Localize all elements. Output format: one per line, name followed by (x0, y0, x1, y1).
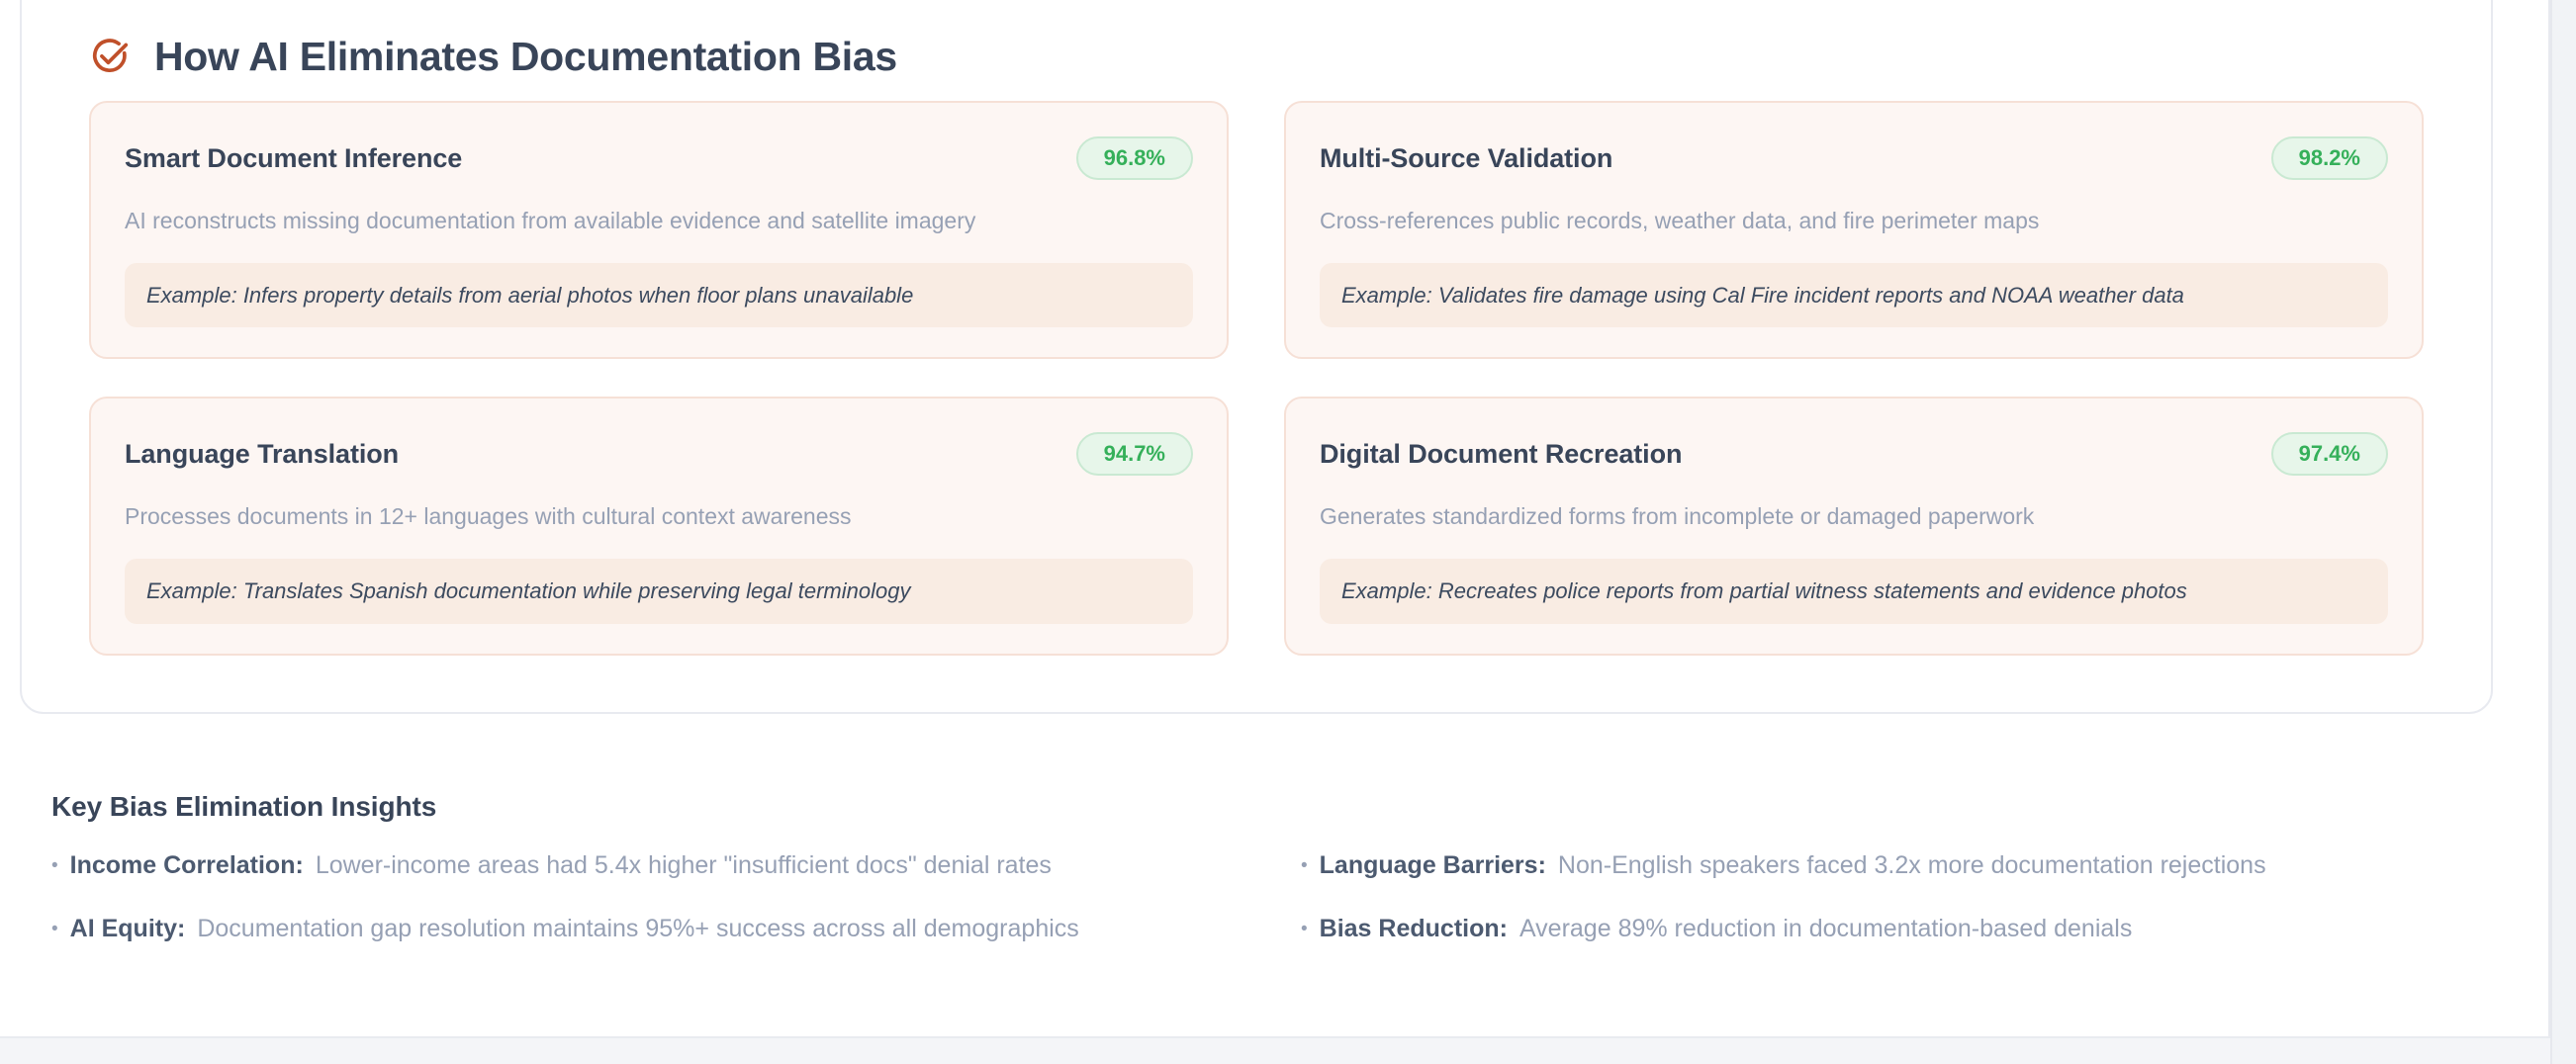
documentation-bias-panel: How AI Eliminates Documentation Bias Sma… (20, 0, 2493, 714)
feature-card-description: Processes documents in 12+ languages wit… (125, 502, 1193, 531)
feature-card-example: Example: Infers property details from ae… (125, 263, 1193, 328)
panel-header: How AI Eliminates Documentation Bias (69, 0, 2443, 101)
feature-card-example: Example: Translates Spanish documentatio… (125, 559, 1193, 624)
feature-card-description: Generates standardized forms from incomp… (1320, 502, 2388, 531)
bullet-icon: • (51, 856, 58, 875)
footer-strip (0, 1038, 2550, 1064)
insight-item: • Language Barriers: Non-English speaker… (1301, 850, 2495, 880)
insight-label: Income Correlation: (70, 850, 304, 880)
page-content-column: How AI Eliminates Documentation Bias Sma… (0, 0, 2550, 1064)
insight-item: • Bias Reduction: Average 89% reduction … (1301, 914, 2495, 943)
feature-card-header: Smart Document Inference 96.8% (125, 136, 1193, 180)
insight-text: Lower-income areas had 5.4x higher "insu… (316, 850, 1052, 880)
insight-label: Language Barriers: (1320, 850, 1546, 880)
key-insights-section: Key Bias Elimination Insights • Income C… (51, 791, 2495, 943)
insight-item: • AI Equity: Documentation gap resolutio… (51, 914, 1245, 943)
bullet-icon: • (1301, 920, 1308, 938)
insight-label: AI Equity: (70, 914, 186, 943)
feature-card-title: Language Translation (125, 439, 399, 470)
feature-card[interactable]: Digital Document Recreation 97.4% Genera… (1284, 397, 2424, 655)
bullet-icon: • (1301, 856, 1308, 875)
insight-text: Non-English speakers faced 3.2x more doc… (1558, 850, 2266, 880)
feature-card-header: Multi-Source Validation 98.2% (1320, 136, 2388, 180)
feature-cards-grid: Smart Document Inference 96.8% AI recons… (69, 101, 2443, 656)
feature-card[interactable]: Language Translation 94.7% Processes doc… (89, 397, 1229, 655)
feature-card-description: Cross-references public records, weather… (1320, 207, 2388, 235)
insight-text: Documentation gap resolution maintains 9… (197, 914, 1078, 943)
feature-card[interactable]: Smart Document Inference 96.8% AI recons… (89, 101, 1229, 359)
feature-card-example: Example: Recreates police reports from p… (1320, 559, 2388, 624)
insight-label: Bias Reduction: (1320, 914, 1508, 943)
feature-card[interactable]: Multi-Source Validation 98.2% Cross-refe… (1284, 101, 2424, 359)
feature-card-description: AI reconstructs missing documentation fr… (125, 207, 1193, 235)
screen: How AI Eliminates Documentation Bias Sma… (0, 0, 2576, 1064)
page-title: How AI Eliminates Documentation Bias (154, 37, 897, 77)
page-scrollbar-gutter[interactable] (2550, 0, 2576, 1064)
feature-card-title: Multi-Source Validation (1320, 143, 1612, 174)
insights-grid: • Income Correlation: Lower-income areas… (51, 850, 2495, 943)
feature-card-example: Example: Validates fire damage using Cal… (1320, 263, 2388, 328)
feature-card-header: Language Translation 94.7% (125, 432, 1193, 476)
accuracy-badge: 94.7% (1076, 432, 1193, 476)
bullet-icon: • (51, 920, 58, 938)
feature-card-header: Digital Document Recreation 97.4% (1320, 432, 2388, 476)
accuracy-badge: 97.4% (2271, 432, 2388, 476)
feature-card-title: Digital Document Recreation (1320, 439, 1682, 470)
badge-check-icon (89, 36, 131, 77)
feature-card-title: Smart Document Inference (125, 143, 462, 174)
insight-item: • Income Correlation: Lower-income areas… (51, 850, 1245, 880)
insight-text: Average 89% reduction in documentation-b… (1519, 914, 2132, 943)
insights-title: Key Bias Elimination Insights (51, 791, 2495, 823)
accuracy-badge: 98.2% (2271, 136, 2388, 180)
accuracy-badge: 96.8% (1076, 136, 1193, 180)
